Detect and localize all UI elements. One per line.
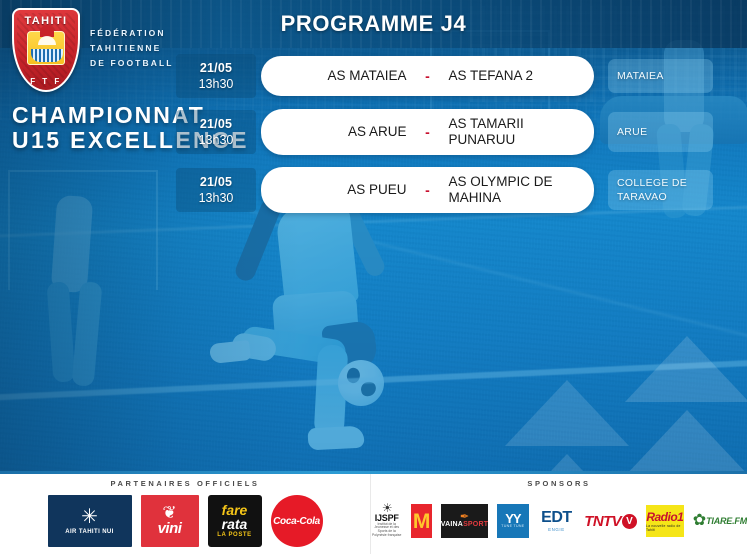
match-card[interactable]: AS PUEU - AS OLYMPIC DE MAHINA <box>261 167 594 213</box>
page-title: PROGRAMME J4 <box>281 11 467 37</box>
match-row[interactable]: 21/05 13h30 AS PUEU - AS OLYMPIC DE MAHI… <box>176 166 741 214</box>
partners-heading: PARTENAIRES OFFICIELS <box>0 479 370 488</box>
tntv-badge-icon: V <box>622 514 637 529</box>
score-separator: - <box>411 124 445 140</box>
match-time: 13h30 <box>199 191 234 205</box>
match-datetime: 21/05 13h30 <box>176 168 256 212</box>
tiare-fm-label: TIARE.FM <box>706 516 747 526</box>
sponsor-footer: PARTENAIRES OFFICIELS ✳ AIR TAHITI NUI ❦… <box>0 474 747 554</box>
match-row[interactable]: 21/05 13h30 AS ARUE - AS TAMARII PUNARUU… <box>176 108 741 156</box>
crest-bottom-label: F T F <box>12 77 80 86</box>
swoosh-icon: ✒ <box>460 514 469 522</box>
tntv-label: TNTV <box>584 513 621 530</box>
edt-label: EDT <box>541 510 572 526</box>
leaf-icon: ✿ <box>693 513 706 529</box>
home-team-name: AS MATAIEA <box>277 68 411 84</box>
radio1-label: Radio1 <box>646 511 683 523</box>
vaina-word: VAINA <box>441 521 463 528</box>
engie-label: ENGIE <box>548 527 565 532</box>
logo-mcdonalds[interactable]: M <box>411 504 431 538</box>
bird-icon: ❦ <box>162 505 176 520</box>
vaina-sport-label: VAINASPORT <box>441 521 488 528</box>
logo-edt[interactable]: EDT ENGIE <box>538 504 576 538</box>
match-time: 13h30 <box>199 133 234 147</box>
match-time: 13h30 <box>199 77 234 91</box>
score-separator: - <box>411 182 445 198</box>
logo-radio1[interactable]: Radio1 La nouvelle radio de Tahiti <box>646 505 684 537</box>
logo-tune-tune[interactable]: YY TUNE TUNE <box>497 504 528 538</box>
mcdonalds-arches-icon: M <box>413 511 431 532</box>
crest-canoe-icon <box>31 49 63 62</box>
match-list: 21/05 13h30 AS MATAIEA - AS TEFANA 2 MAT… <box>176 54 741 224</box>
tiare-flower-icon: ✳ <box>81 507 98 527</box>
match-datetime: 21/05 13h30 <box>176 110 256 154</box>
tune-tune-label: TUNE TUNE <box>501 524 524 528</box>
logo-coca-cola[interactable]: Coca-Cola <box>271 495 323 547</box>
air-tahiti-nui-label: AIR TAHITI NUI <box>65 529 114 535</box>
programme-poster: PROGRAMME J4 TAHITI F T F FÉDÉRATION TAH… <box>0 0 747 554</box>
match-card[interactable]: AS ARUE - AS TAMARII PUNARUU <box>261 109 594 155</box>
fare-label: fare <box>222 504 248 517</box>
logo-ijspf[interactable]: ☀ IJSPF Institut de la Jeunesse et des S… <box>371 503 402 539</box>
match-date: 21/05 <box>200 117 232 131</box>
match-date: 21/05 <box>200 61 232 75</box>
home-team-name: AS ARUE <box>277 124 411 140</box>
vini-label: vini <box>158 520 182 537</box>
logo-air-tahiti-nui[interactable]: ✳ AIR TAHITI NUI <box>48 495 132 547</box>
federation-line-1: FÉDÉRATION <box>90 26 174 41</box>
home-team-name: AS PUEU <box>277 182 411 198</box>
rata-label: rata <box>222 517 248 531</box>
sponsors-heading: SPONSORS <box>371 479 747 488</box>
match-venue: MATAIEA <box>608 59 713 93</box>
away-team-name: AS TEFANA 2 <box>445 68 579 84</box>
coca-cola-label: Coca-Cola <box>273 516 320 527</box>
federation-line-3: DE FOOTBALL <box>90 56 174 71</box>
crest-sun-icon <box>38 36 56 45</box>
crest-emblem <box>27 31 65 65</box>
sport-word: SPORT <box>463 521 488 528</box>
federation-name: FÉDÉRATION TAHITIENNE DE FOOTBALL <box>90 8 174 71</box>
sponsors-section: SPONSORS ☀ IJSPF Institut de la Jeunesse… <box>370 474 747 554</box>
logo-fare-rata[interactable]: fare rata LA POSTE <box>208 495 262 547</box>
away-team-name: AS TAMARII PUNARUU <box>445 116 579 148</box>
match-venue: ARUE <box>608 112 713 152</box>
partners-logo-strip: ✳ AIR TAHITI NUI ❦ vini fare rata LA POS… <box>0 492 370 550</box>
ijspf-ornament-icon: ☀ <box>382 504 392 512</box>
tune-tune-monogram: YY <box>505 514 520 524</box>
ijspf-sublabel: Institut de la Jeunesse et des Sports de… <box>371 523 402 538</box>
score-separator: - <box>411 68 445 84</box>
match-row[interactable]: 21/05 13h30 AS MATAIEA - AS TEFANA 2 MAT… <box>176 54 741 98</box>
match-datetime: 21/05 13h30 <box>176 54 256 98</box>
match-date: 21/05 <box>200 175 232 189</box>
federation-line-2: TAHITIENNE <box>90 41 174 56</box>
logo-tntv[interactable]: TNTV V <box>584 504 637 538</box>
match-venue: COLLEGE DE TARAVAO <box>608 170 713 210</box>
ftf-crest-logo: TAHITI F T F <box>12 8 80 94</box>
match-card[interactable]: AS MATAIEA - AS TEFANA 2 <box>261 56 594 96</box>
logo-vini[interactable]: ❦ vini <box>141 495 199 547</box>
sponsors-logo-strip: ☀ IJSPF Institut de la Jeunesse et des S… <box>371 492 747 550</box>
la-poste-label: LA POSTE <box>217 532 252 538</box>
radio1-sublabel: La nouvelle radio de Tahiti <box>646 524 684 532</box>
logo-vaina-sport[interactable]: ✒ VAINASPORT <box>441 504 488 538</box>
away-team-name: AS OLYMPIC DE MAHINA <box>445 174 579 206</box>
logo-tiare-fm[interactable]: ✿ TIARE.FM <box>693 505 747 537</box>
official-partners-section: PARTENAIRES OFFICIELS ✳ AIR TAHITI NUI ❦… <box>0 474 370 554</box>
